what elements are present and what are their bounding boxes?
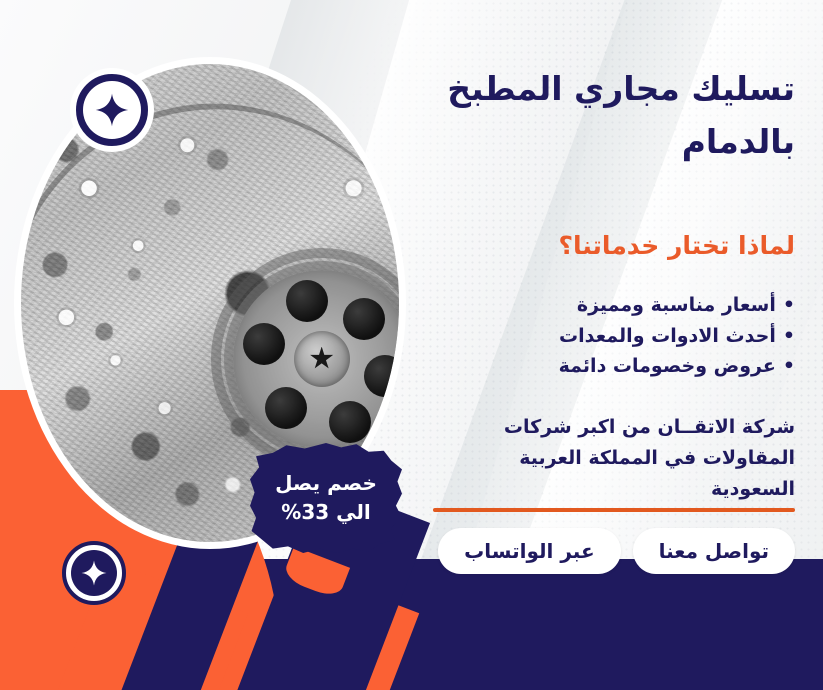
- list-item: أحدث الادوات والمعدات: [375, 321, 795, 352]
- about-line2: المقاولات في المملكة العربية: [519, 447, 795, 469]
- whatsapp-button[interactable]: عبر الواتساب: [438, 528, 620, 574]
- about-line1: شركة الاتقــان من اكبر شركات: [504, 416, 795, 438]
- brand-logo-inner: [71, 550, 117, 596]
- page-title: تسليك مجاري المطبخ بالدمام: [375, 62, 795, 169]
- discount-badge-line2: الي 33%: [275, 498, 377, 527]
- headline-line1: تسليك مجاري المطبخ: [447, 69, 795, 108]
- brand-logo-inner: [83, 81, 141, 139]
- drain-hole: [286, 280, 328, 322]
- company-description: شركة الاتقــان من اكبر شركات المقاولات ف…: [375, 382, 795, 504]
- text-column: تسليك مجاري المطبخ بالدمام لماذا تختار خ…: [375, 62, 795, 505]
- drain-hole: [329, 401, 371, 443]
- discount-badge-line1: خصم يصل: [275, 469, 377, 498]
- brand-logo-top: [70, 68, 154, 152]
- ad-poster: خصم يصل الي 33% تسليك مجاري المطبخ بالدم…: [0, 0, 823, 690]
- orange-divider-line: [433, 508, 795, 512]
- contact-us-button[interactable]: تواصل معنا: [633, 528, 795, 574]
- cta-button-row: تواصل معنا عبر الواتساب: [438, 528, 795, 574]
- subheading: لماذا تختار خدماتنا؟: [375, 169, 795, 260]
- brand-logo-bottom: [62, 541, 126, 605]
- headline-line2: بالدمام: [682, 122, 795, 161]
- drain-hole: [265, 387, 307, 429]
- discount-badge-text: خصم يصل الي 33%: [265, 469, 387, 527]
- list-item: أسعار مناسبة ومميزة: [375, 290, 795, 321]
- list-item: عروض وخصومات دائمة: [375, 351, 795, 382]
- drain-hole: [243, 323, 285, 365]
- sparkle-icon: [81, 560, 107, 586]
- sparkle-icon: [95, 93, 129, 127]
- about-line3: السعودية: [711, 478, 795, 500]
- drain-center-screw: [294, 331, 350, 387]
- benefits-list: أسعار مناسبة ومميزة أحدث الادوات والمعدا…: [375, 260, 795, 382]
